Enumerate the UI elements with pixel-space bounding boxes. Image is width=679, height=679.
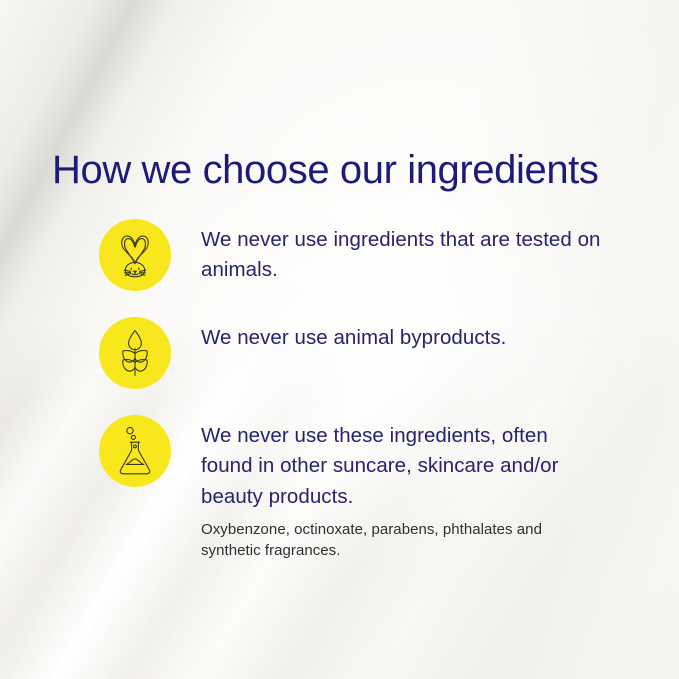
claims-list: We never use ingredients that are tested… [99, 219, 629, 562]
list-item-text: We never use ingredients that are tested… [171, 219, 629, 286]
ingredients-infographic: How we choose our ingredients [0, 0, 679, 679]
chemistry-flask-icon [115, 426, 155, 476]
content-area: How we choose our ingredients [0, 0, 679, 679]
list-item: We never use animal byproducts. [99, 317, 629, 389]
badge-circle-no-animal-byproducts [99, 317, 171, 389]
badge-circle-no-harmful-chemicals [99, 415, 171, 487]
list-item: We never use these ingredients, often fo… [99, 415, 629, 562]
list-item-text: We never use animal byproducts. [171, 317, 629, 353]
claim-text: We never use animal byproducts. [201, 323, 601, 353]
claim-text: We never use ingredients that are tested… [201, 225, 601, 286]
list-item: We never use ingredients that are tested… [99, 219, 629, 291]
page-title: How we choose our ingredients [52, 148, 599, 193]
list-item-text: We never use these ingredients, often fo… [171, 415, 629, 562]
badge-circle-cruelty-free [99, 219, 171, 291]
bunny-heart-ears-icon [113, 232, 157, 278]
plant-sprout-icon [115, 329, 155, 377]
claim-text: We never use these ingredients, often fo… [201, 421, 601, 512]
claim-note: Oxybenzone, octinoxate, parabens, phthal… [201, 519, 561, 562]
